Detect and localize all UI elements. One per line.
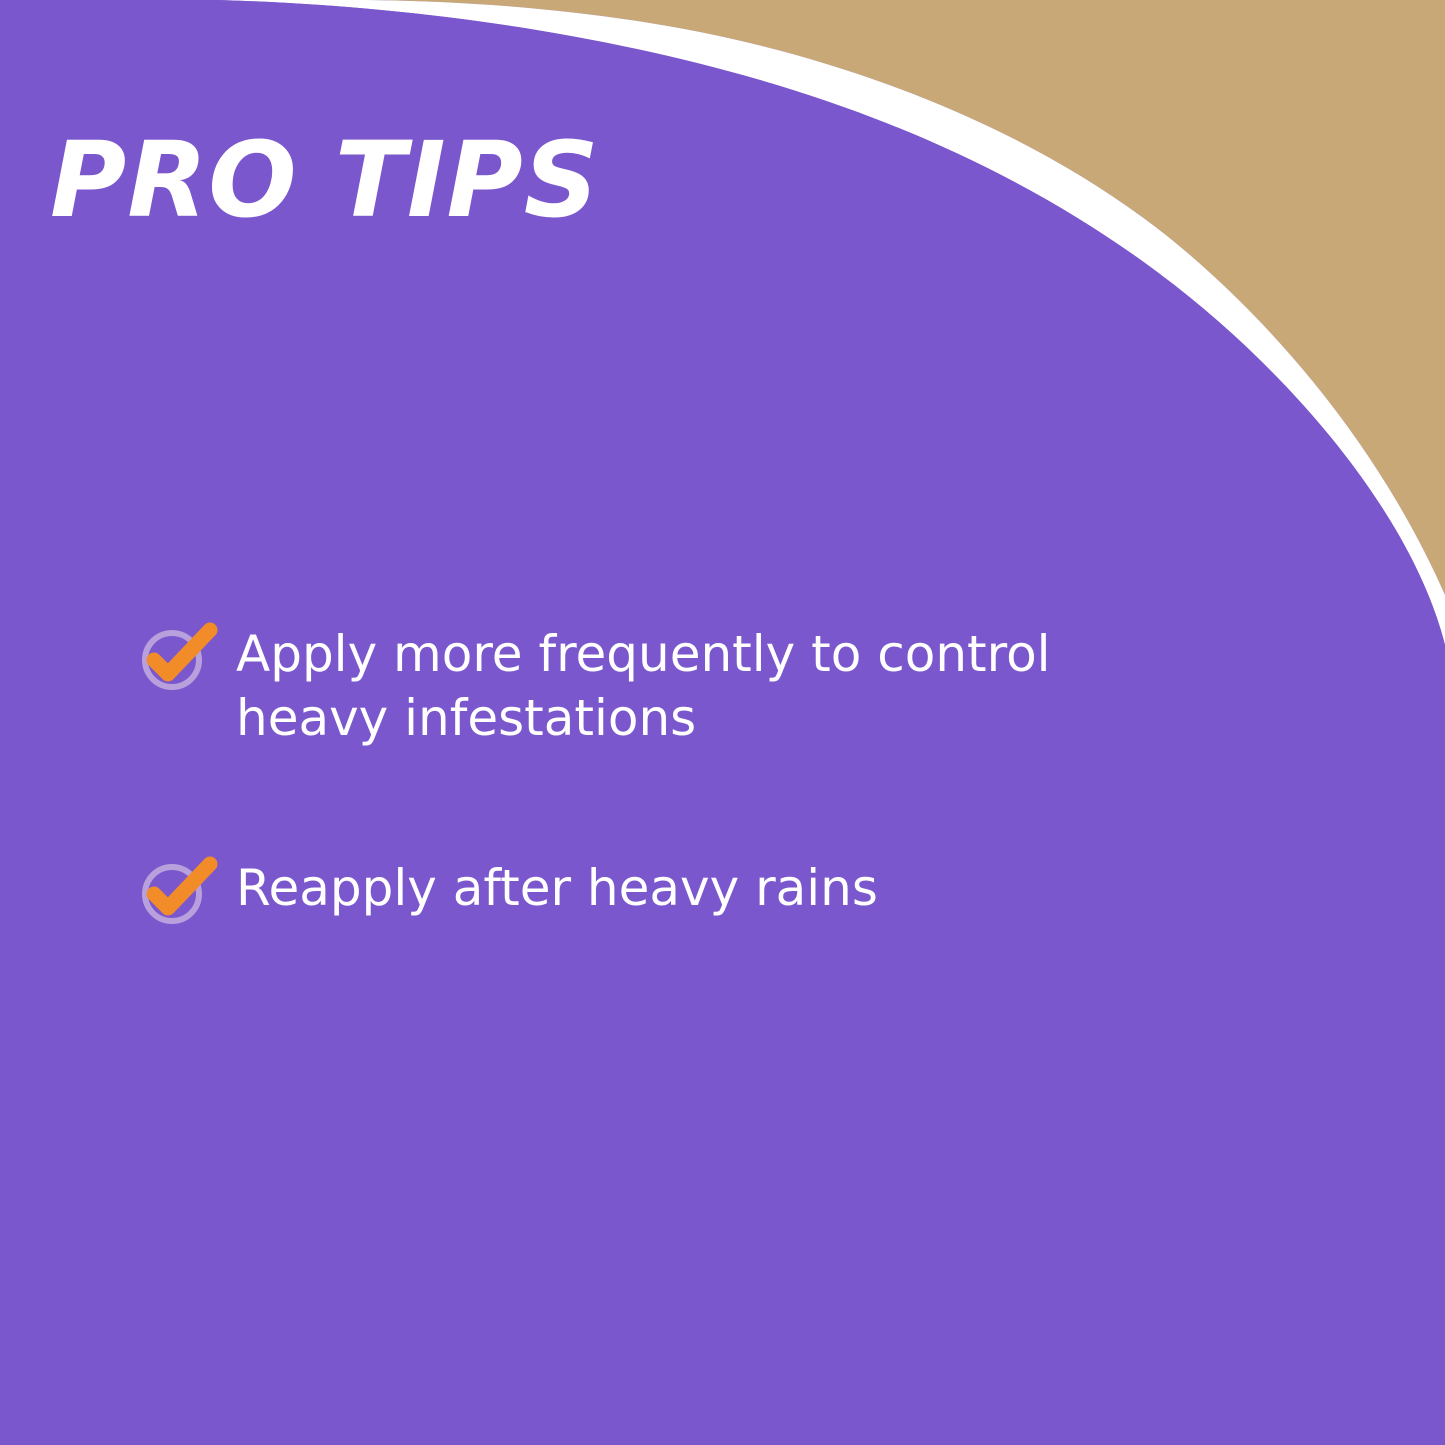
list-item-label: Apply more frequently to control heavy i… [236,622,1116,750]
check-circle-icon [140,858,218,932]
pro-tips-card: PRO TIPS Apply more frequently to contro… [0,0,1445,1445]
check-circle-icon [140,624,218,698]
list-item: Reapply after heavy rains [140,856,1150,930]
card-content: PRO TIPS Apply more frequently to contro… [0,0,1445,1445]
list-item-label: Reapply after heavy rains [236,856,878,920]
list-item: Apply more frequently to control heavy i… [140,622,1150,750]
tips-list: Apply more frequently to control heavy i… [140,622,1150,930]
page-title: PRO TIPS [50,128,600,232]
